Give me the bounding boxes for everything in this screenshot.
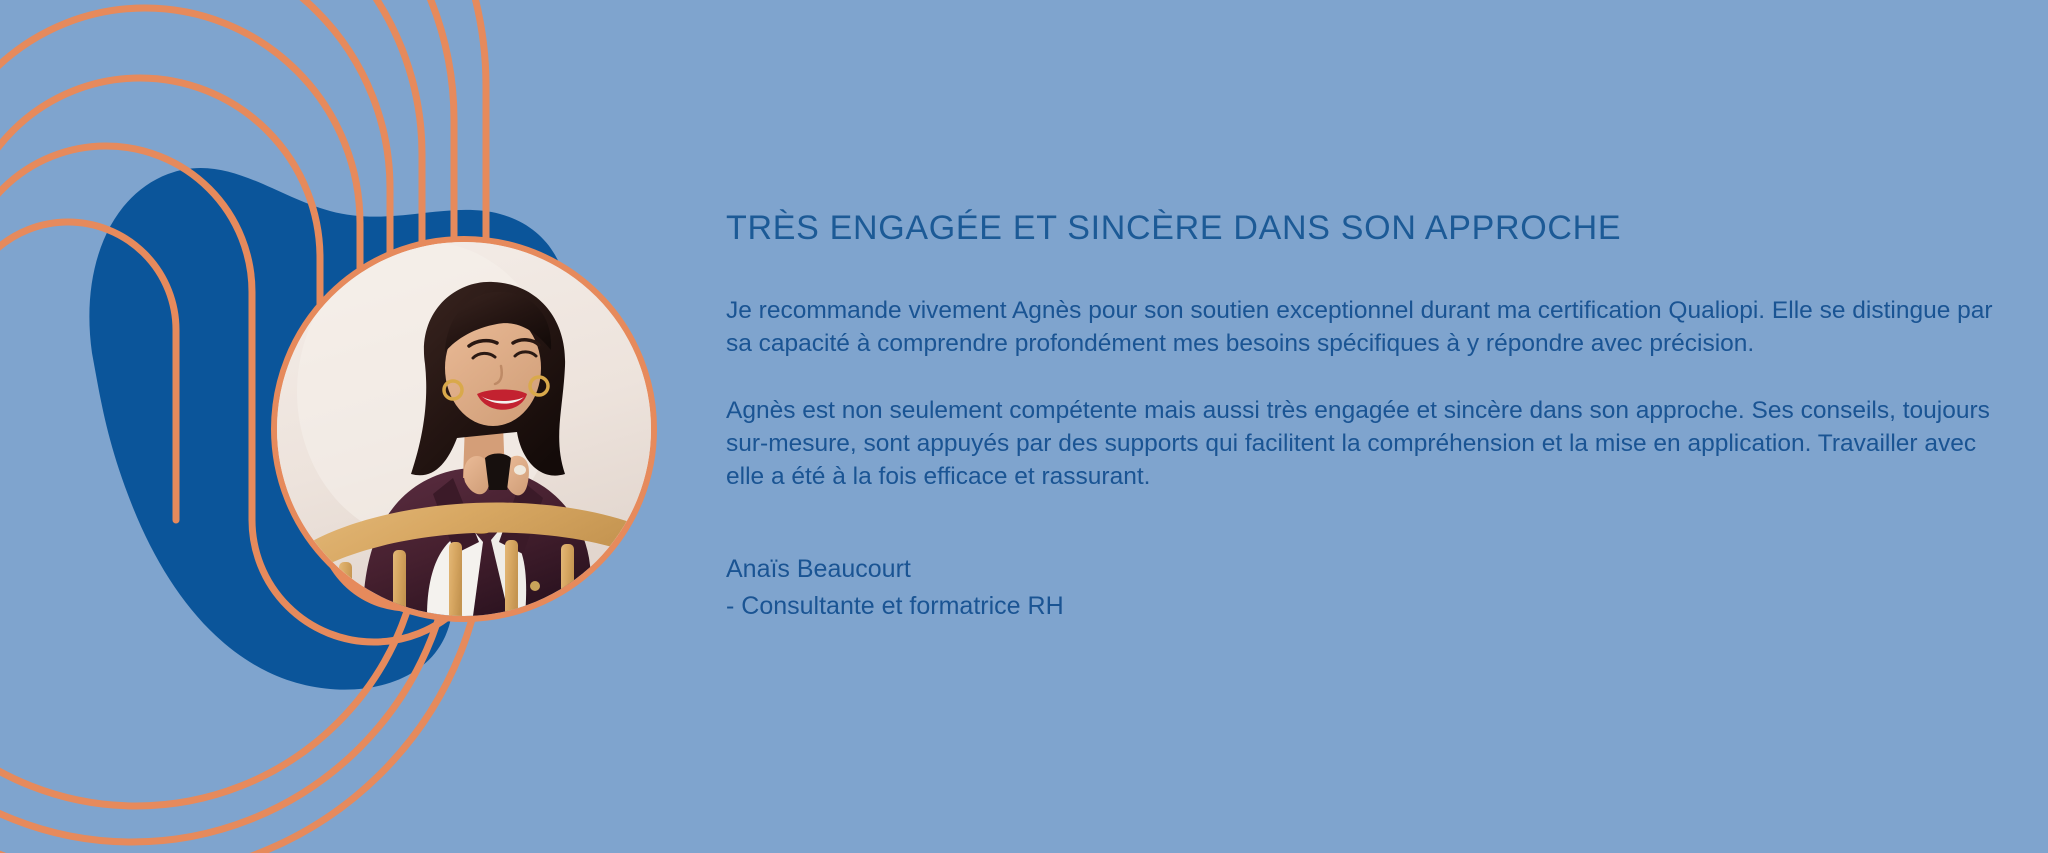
author-name: Anaïs Beaucourt	[726, 551, 2016, 587]
testimonial-banner: TRÈS ENGAGÉE ET SINCÈRE DANS SON APPROCH…	[0, 0, 2048, 853]
testimonial-paragraph-1: Je recommande vivement Agnès pour son so…	[726, 294, 2012, 360]
testimonial-attribution: Anaïs Beaucourt - Consultante et formatr…	[726, 551, 2016, 624]
testimonial-heading: TRÈS ENGAGÉE ET SINCÈRE DANS SON APPROCH…	[726, 208, 2016, 248]
testimonial-content: TRÈS ENGAGÉE ET SINCÈRE DANS SON APPROCH…	[726, 208, 2016, 624]
author-role: - Consultante et formatrice RH	[726, 588, 2016, 624]
portrait-illustration	[277, 242, 651, 616]
portrait-photo	[271, 236, 657, 622]
testimonial-paragraph-2: Agnès est non seulement compétente mais …	[726, 394, 2012, 493]
